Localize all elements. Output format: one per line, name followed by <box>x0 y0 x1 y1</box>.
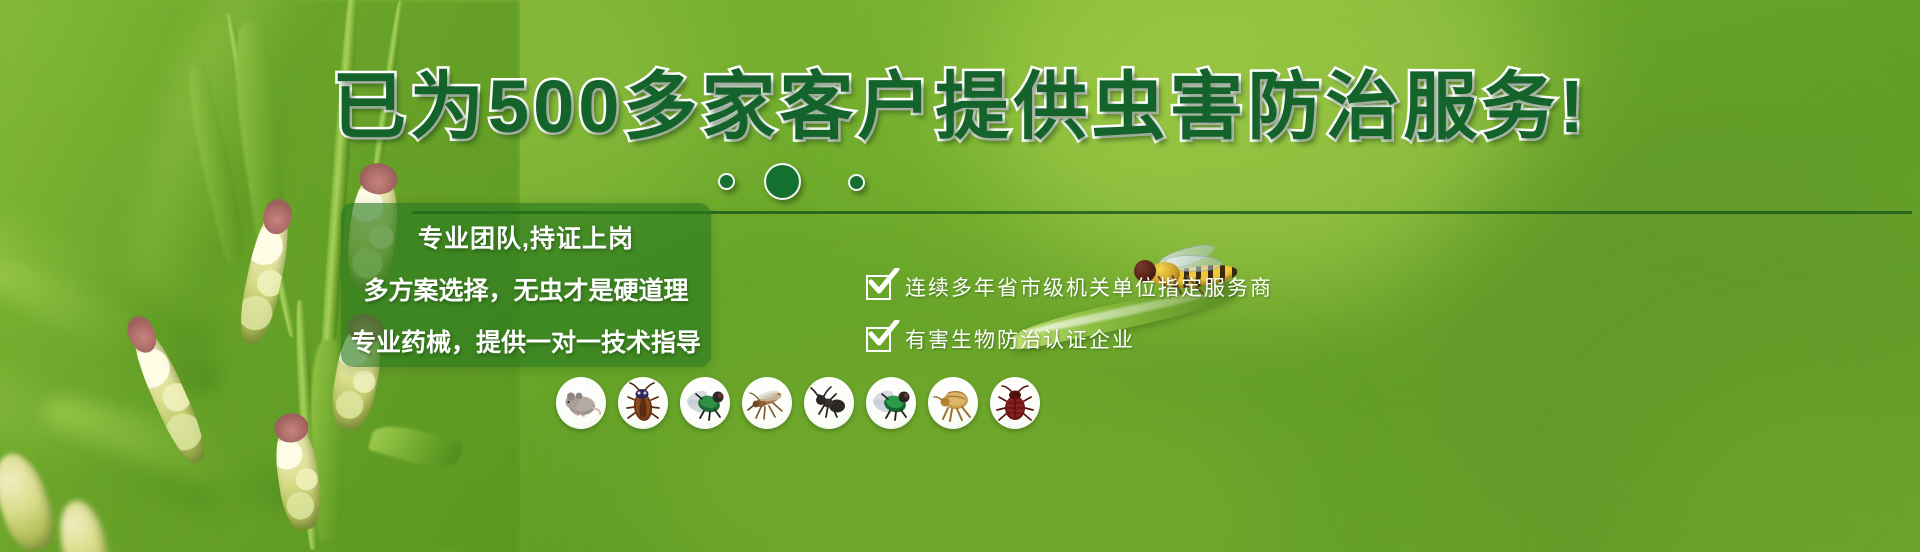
credential-checklist: 连续多年省市级机关单位指定服务商 有害生物防治认证企业 <box>866 272 1346 376</box>
fly-green-icon[interactable] <box>866 377 916 429</box>
mouse-glyph <box>560 382 602 424</box>
pest-icon-row <box>556 377 1040 429</box>
checklist-label: 连续多年省市级机关单位指定服务商 <box>905 272 1273 302</box>
background-bokeh-blob <box>1430 120 1920 552</box>
banner-headline: 已为500多家客户提供虫害防治服务! <box>0 70 1920 144</box>
feature-line-3: 专业药械，提供一对一技术指导 <box>341 323 711 359</box>
check-mark-icon <box>868 268 900 296</box>
checklist-item: 有害生物防治认证企业 <box>866 324 1346 354</box>
decor-dot-small-right <box>848 174 865 191</box>
pest-control-banner: 已为500多家客户提供虫害防治服务! 专业团队,持证上岗 多方案选择，无虫才是硬… <box>0 0 1920 552</box>
checkbox-checked-icon <box>866 275 891 300</box>
checklist-label: 有害生物防治认证企业 <box>905 324 1135 354</box>
cockroach-icon[interactable] <box>618 377 668 429</box>
fly-green-glyph <box>870 382 912 424</box>
feature-line-2: 多方案选择，无虫才是硬道理 <box>341 271 711 307</box>
flea-icon[interactable] <box>928 377 978 429</box>
mouse-icon[interactable] <box>556 377 606 429</box>
decor-dot-large-center <box>764 163 801 200</box>
decor-dot-group <box>700 158 900 206</box>
check-mark-icon <box>868 320 900 348</box>
bedbug-icon[interactable] <box>990 377 1040 429</box>
mosquito-glyph <box>746 382 788 424</box>
cockroach-glyph <box>622 382 664 424</box>
background-bokeh-blob <box>1640 380 1920 552</box>
flea-glyph <box>932 382 974 424</box>
checklist-item: 连续多年省市级机关单位指定服务商 <box>866 272 1346 302</box>
ant-glyph <box>808 382 850 424</box>
decor-dot-small-left <box>718 173 735 190</box>
bedbug-glyph <box>994 382 1036 424</box>
fly-glyph <box>684 382 726 424</box>
fly-icon[interactable] <box>680 377 730 429</box>
checkbox-checked-icon <box>866 327 891 352</box>
feature-line-1: 专业团队,持证上岗 <box>341 219 711 255</box>
mosquito-icon[interactable] <box>742 377 792 429</box>
ant-icon[interactable] <box>804 377 854 429</box>
feature-panel: 专业团队,持证上岗 多方案选择，无虫才是硬道理 专业药械，提供一对一技术指导 <box>341 203 711 367</box>
